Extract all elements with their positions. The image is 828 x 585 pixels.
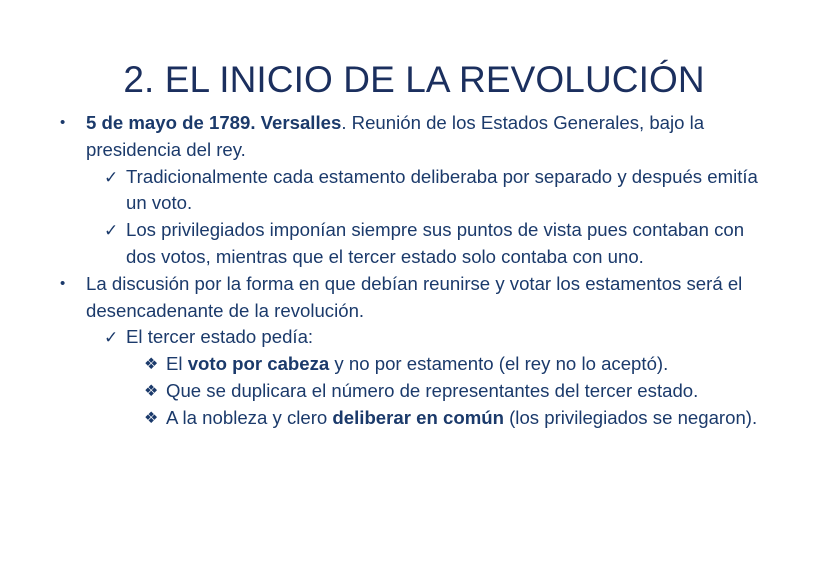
list-item-text: El tercer estado pedía:: [126, 324, 778, 351]
page-title: 2. EL INICIO DE LA REVOLUCIÓN: [0, 61, 828, 100]
list-item-text: A la nobleza y clero deliberar en común …: [166, 405, 778, 432]
floret-diamond-icon: ❖: [144, 405, 166, 432]
bullet-dot-icon: •: [60, 271, 86, 297]
list-item: • La discusión por la forma en que debía…: [60, 271, 780, 325]
list-item: ✓ Los privilegiados imponían siempre sus…: [104, 217, 780, 271]
check-icon: ✓: [104, 164, 126, 191]
check-icon: ✓: [104, 217, 126, 244]
floret-diamond-icon: ❖: [144, 378, 166, 405]
list-item-text: Tradicionalmente cada estamento delibera…: [126, 164, 778, 218]
list-item: ❖ Que se duplicara el número de represen…: [144, 378, 780, 405]
list-item: ❖ El voto por cabeza y no por estamento …: [144, 351, 780, 378]
floret-diamond-icon: ❖: [144, 351, 166, 378]
check-icon: ✓: [104, 324, 126, 351]
list-item-post: (los privilegiados se negaron).: [504, 407, 757, 428]
list-item-pre: El: [166, 353, 188, 374]
list-item-text: La discusión por la forma en que debían …: [86, 271, 776, 325]
list-item-bold: deliberar en común: [332, 407, 504, 428]
list-item-bold: 5 de mayo de 1789. Versalles: [86, 112, 341, 133]
list-item-text: 5 de mayo de 1789. Versalles. Reunión de…: [86, 110, 776, 164]
list-item: ❖ A la nobleza y clero deliberar en comú…: [144, 405, 780, 432]
slide: 2. EL INICIO DE LA REVOLUCIÓN • 5 de may…: [0, 0, 828, 585]
list-item-text: Que se duplicara el número de representa…: [166, 378, 778, 405]
list-item-bold: voto por cabeza: [188, 353, 330, 374]
list-item-text: Los privilegiados imponían siempre sus p…: [126, 217, 778, 271]
slide-body: • 5 de mayo de 1789. Versalles. Reunión …: [60, 110, 780, 432]
list-item: • 5 de mayo de 1789. Versalles. Reunión …: [60, 110, 780, 164]
list-item-pre: A la nobleza y clero: [166, 407, 332, 428]
list-item: ✓ Tradicionalmente cada estamento delibe…: [104, 164, 780, 218]
list-item-text: El voto por cabeza y no por estamento (e…: [166, 351, 778, 378]
list-item-post: y no por estamento (el rey no lo aceptó)…: [329, 353, 668, 374]
bullet-dot-icon: •: [60, 110, 86, 136]
list-item: ✓ El tercer estado pedía:: [104, 324, 780, 351]
